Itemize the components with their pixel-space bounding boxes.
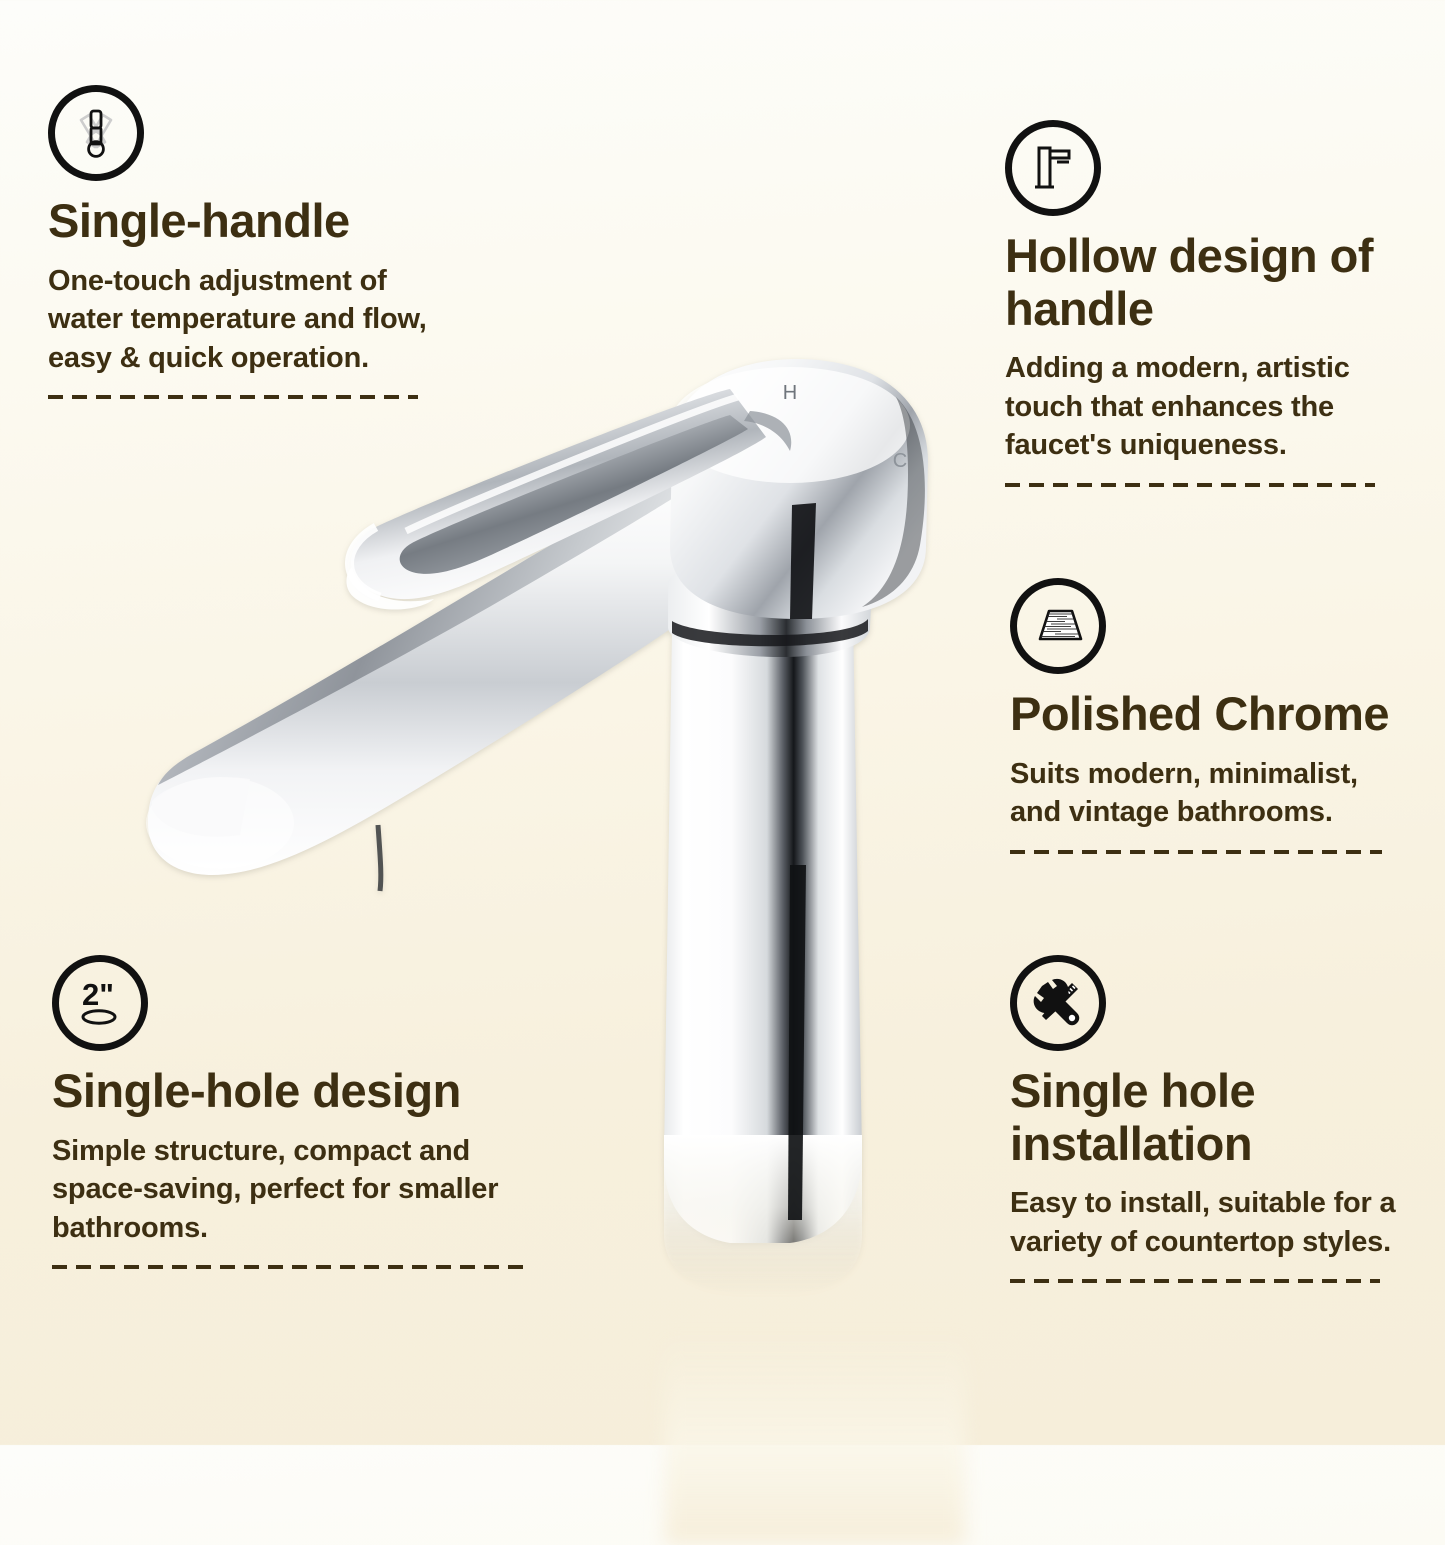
feature-divider [52,1265,530,1269]
feature-body: Adding a modern, artistic touch that enh… [1005,349,1395,465]
faucet-outline-icon [1005,120,1101,216]
feature-divider [1010,850,1382,854]
product-reflection [665,1335,965,1545]
feature-body: Easy to install, suitable for a variety … [1010,1184,1400,1261]
feature-body: Simple structure, compact and space-savi… [52,1132,552,1248]
feature-divider [1010,1279,1380,1283]
feature-body: One-touch adjustment of water temperatur… [48,262,433,378]
feature-title: Single-handle [48,195,433,248]
infographic-canvas: H C [0,0,1445,1445]
wrench-screwdriver-icon [1010,955,1106,1051]
feature-polished-chrome: Polished Chrome Suits modern, minimalist… [1010,578,1410,854]
feature-single-hole-installation: Single hole installation Easy to install… [1010,955,1400,1283]
feature-divider [48,395,418,399]
feature-title: Polished Chrome [1010,688,1410,741]
lever-handle-positions-icon [48,85,144,181]
hot-marking: H [783,382,797,404]
feature-single-hole-design: 2" Single-hole design Simple structure, … [52,955,552,1269]
feature-divider [1005,483,1375,487]
feature-title: Single-hole design [52,1065,552,1118]
feature-title: Single hole installation [1010,1065,1400,1170]
hole-size-label: 2" [82,977,114,1012]
two-inch-hole-icon: 2" [52,955,148,1051]
feature-body: Suits modern, minimalist, and vintage ba… [1010,755,1410,832]
cold-marking: C [893,450,907,472]
brushed-metal-plate-icon [1010,578,1106,674]
feature-single-handle: Single-handle One-touch adjustment of wa… [48,85,433,399]
feature-hollow-design: Hollow design of handle Adding a modern,… [1005,120,1395,487]
feature-title: Hollow design of handle [1005,230,1395,335]
